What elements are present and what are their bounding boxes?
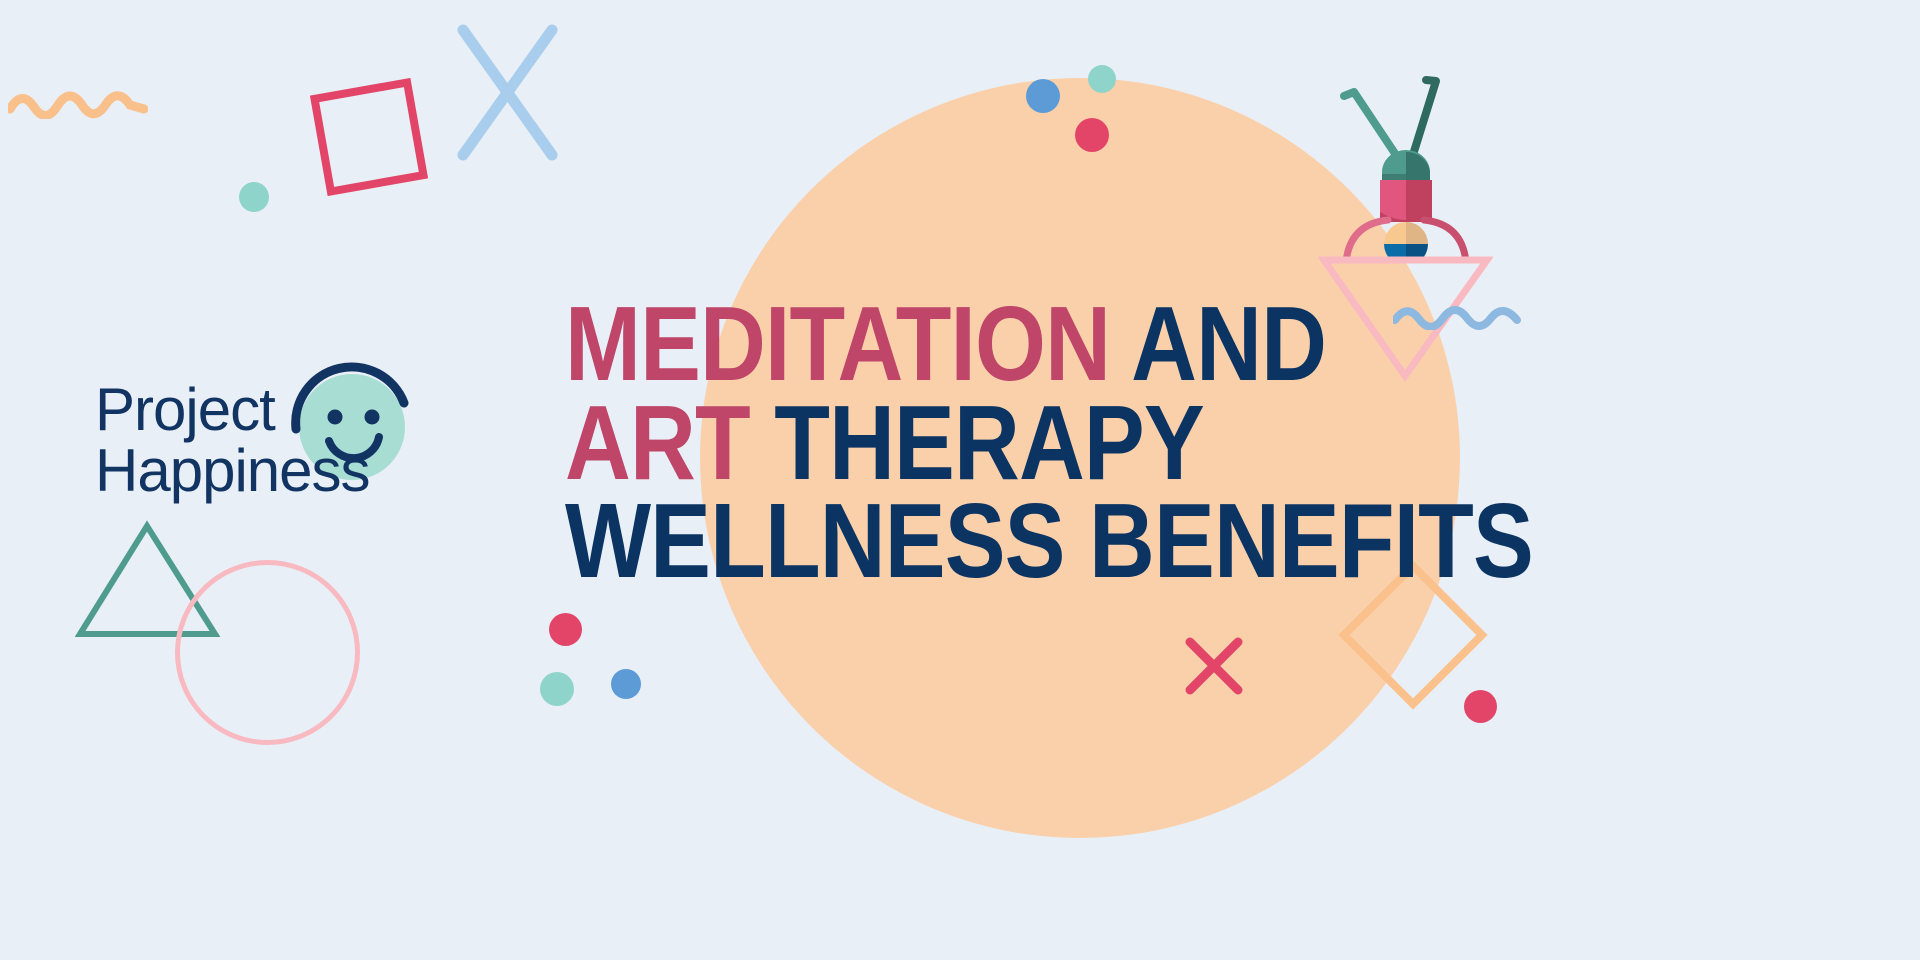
dot-blue-icon [1026, 79, 1060, 113]
cross-x-blue-icon [455, 20, 560, 165]
logo-wordmark: Project Happiness [95, 379, 370, 501]
logo-line-2: Happiness [95, 440, 370, 501]
headline: MEDITATION AND ART THERAPY WELLNESS BENE… [565, 295, 1795, 591]
dot-rose-icon [1464, 690, 1497, 723]
dot-rose-icon [1075, 118, 1109, 152]
headline-line-3-segment-1: WELLNESS BENEFITS [565, 482, 1533, 600]
headline-line-1: MEDITATION AND [565, 295, 1623, 394]
dot-teal-icon [1088, 65, 1116, 93]
dot-blue-icon [611, 669, 641, 699]
circle-outline-pink-icon [175, 560, 360, 745]
square-outline-pink-icon [310, 78, 428, 196]
cross-x-rose-icon [1183, 635, 1245, 697]
dot-teal-icon [239, 182, 269, 212]
paint-jar-brushes-icon [1320, 62, 1495, 262]
dot-teal-icon [540, 672, 574, 706]
headline-line-3: WELLNESS BENEFITS [565, 492, 1623, 591]
banner-canvas: Project Happiness MEDITATION AND ART THE… [0, 0, 1920, 960]
logo-line-1: Project [95, 379, 370, 440]
project-happiness-logo: Project Happiness [95, 355, 515, 555]
dot-rose-icon [549, 613, 582, 646]
wave-line-orange-icon [8, 85, 148, 119]
headline-line-2: ART THERAPY [565, 394, 1623, 493]
